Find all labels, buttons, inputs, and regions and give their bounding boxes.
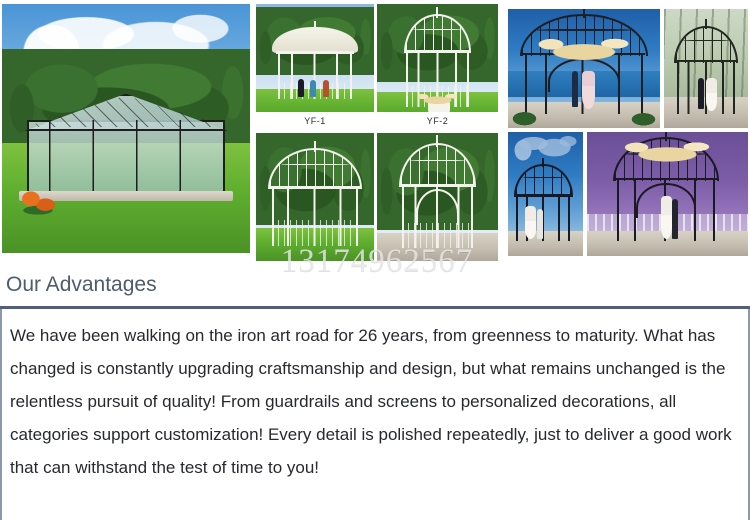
floral-garland — [529, 35, 638, 66]
photo-scene — [2, 4, 250, 253]
greenhouse-structure — [27, 94, 225, 194]
gazebo-dome — [674, 26, 738, 63]
gallery-photo-wedding-purple-venue[interactable] — [587, 132, 748, 256]
groom-figure — [672, 199, 678, 239]
hedge-shrub — [508, 97, 541, 128]
photo-scene — [256, 133, 374, 261]
groom-figure — [537, 209, 543, 239]
gallery-photo-white-gazebo-pavilion[interactable]: YF-1 — [256, 4, 374, 129]
gallery-photo-wedding-woodland[interactable] — [664, 9, 748, 128]
photo-scene — [256, 4, 374, 129]
gallery-photo-wedding-blue-sky[interactable] — [508, 132, 583, 256]
gilded-ornament — [616, 139, 719, 166]
photo-scene — [508, 9, 660, 128]
gallery-photo-white-gazebo-bench[interactable] — [256, 133, 374, 261]
photo-scene — [587, 132, 748, 256]
seated-figure — [298, 79, 304, 97]
flower-bed — [12, 183, 67, 218]
photo-scene — [664, 9, 748, 128]
gazebo-dome — [514, 164, 573, 196]
gazebo-structure — [514, 164, 573, 241]
hedge-shrub — [627, 99, 660, 128]
gazebo-structure — [399, 143, 476, 248]
gazebo-skirt — [402, 223, 473, 248]
bride-figure — [706, 78, 717, 111]
photo-scene — [377, 133, 498, 261]
groom-figure — [698, 78, 704, 109]
photo-scene — [377, 4, 498, 129]
photo-caption: YF-2 — [377, 112, 498, 129]
gazebo-dome — [268, 148, 362, 189]
gazebo-skirt — [272, 220, 359, 245]
photo-scene — [508, 132, 583, 256]
advantages-body: We have been walking on the iron art roa… — [0, 309, 750, 520]
page-title: Our Advantages — [0, 262, 750, 307]
groom-figure — [572, 71, 578, 107]
product-photo-gallery: YF-1 YF-2 — [0, 0, 750, 265]
gallery-photo-wedding-lakeside[interactable] — [508, 9, 660, 128]
floral-arrangement — [413, 92, 461, 107]
bride-figure — [525, 206, 536, 238]
gallery-photo-greenhouse-main[interactable] — [2, 4, 250, 253]
gallery-photo-white-gazebo-domed[interactable]: YF-2 — [377, 4, 498, 129]
gazebo-roof — [272, 27, 359, 53]
bride-figure — [661, 196, 672, 238]
advantages-paragraph: We have been walking on the iron art roa… — [10, 319, 740, 484]
gazebo-dome — [404, 14, 472, 53]
bride-figure — [582, 71, 595, 109]
gazebo-finial — [314, 21, 316, 30]
gallery-photo-white-gazebo-arched[interactable] — [377, 133, 498, 261]
seated-figure — [310, 80, 316, 96]
title-divider — [0, 306, 750, 309]
gazebo-dome — [399, 143, 476, 187]
seated-figure — [323, 80, 329, 96]
gazebo-structure — [268, 148, 362, 245]
photo-caption: YF-1 — [256, 112, 374, 129]
